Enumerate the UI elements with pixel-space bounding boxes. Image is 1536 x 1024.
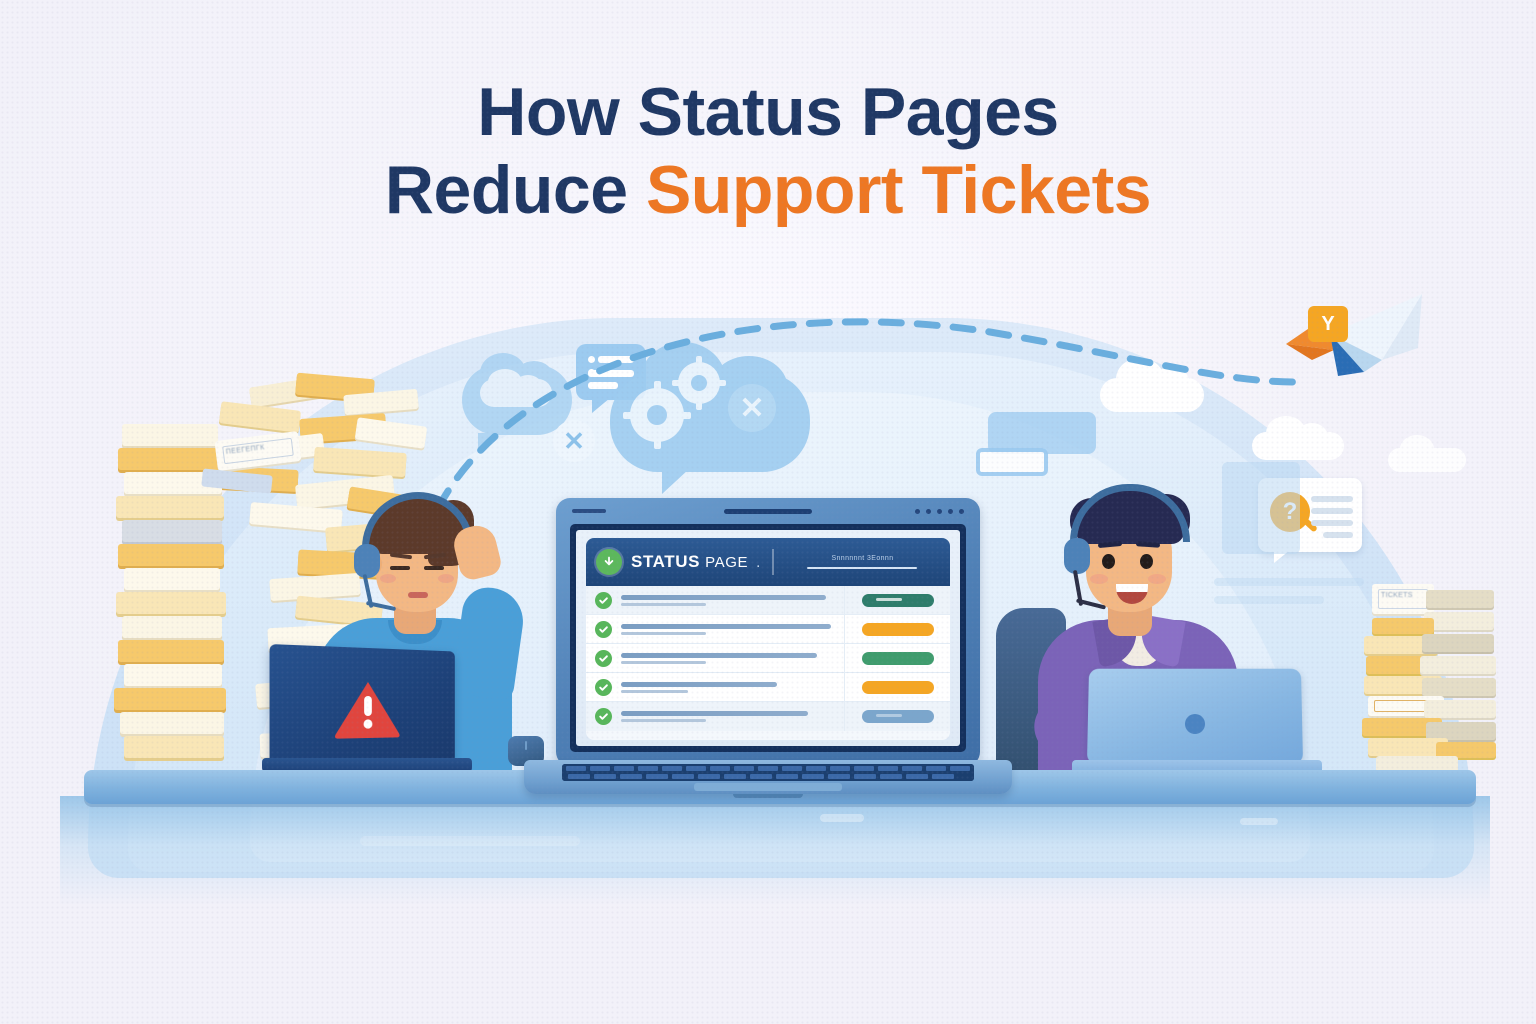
status-badge bbox=[862, 594, 934, 607]
status-page-laptop[interactable]: STATUS PAGE . Snnnnnnt 3Eonnn bbox=[556, 498, 980, 798]
status-title-bold: STATUS bbox=[631, 552, 700, 571]
keyboard-keys bbox=[562, 764, 974, 781]
agent-eye bbox=[1102, 554, 1115, 569]
paper-plane-icon: Y bbox=[1272, 288, 1432, 384]
table-row[interactable] bbox=[586, 586, 950, 615]
status-title-dot: . bbox=[756, 554, 761, 571]
left-laptop-screen[interactable] bbox=[270, 644, 455, 770]
agent-eye bbox=[390, 566, 410, 570]
headset-earcup-icon bbox=[354, 544, 380, 578]
bezel-dots bbox=[915, 509, 964, 514]
page-title: How Status Pages Reduce Support Tickets bbox=[0, 76, 1536, 226]
status-page-screen[interactable]: STATUS PAGE . Snnnnnnt 3Eonnn bbox=[576, 530, 960, 746]
right-laptop[interactable] bbox=[1072, 668, 1322, 780]
desk-surface bbox=[60, 796, 1490, 906]
row-text-placeholder bbox=[621, 624, 844, 635]
agent-blush bbox=[438, 574, 454, 583]
row-status-cell bbox=[844, 702, 950, 731]
agent-blush bbox=[380, 574, 396, 583]
agent-eye bbox=[424, 566, 444, 570]
agent-arm bbox=[451, 584, 528, 702]
row-status-cell bbox=[844, 586, 950, 614]
status-badge bbox=[862, 623, 934, 636]
laptop-logo-icon bbox=[1185, 714, 1205, 734]
table-row[interactable] bbox=[586, 673, 950, 702]
header-divider bbox=[772, 549, 774, 575]
laptop-trackpad[interactable] bbox=[694, 783, 842, 791]
title-line-2-prefix: Reduce bbox=[385, 152, 646, 228]
agent-blush bbox=[1090, 574, 1108, 584]
download-circle-icon bbox=[596, 549, 622, 575]
stack-label-text: TICKETS bbox=[1381, 592, 1413, 599]
row-text-placeholder bbox=[621, 653, 844, 664]
table-row[interactable] bbox=[586, 644, 950, 673]
camera-slit bbox=[724, 509, 812, 514]
row-text-placeholder bbox=[621, 595, 844, 606]
title-line-2: Reduce Support Tickets bbox=[0, 154, 1536, 226]
status-page-header: STATUS PAGE . Snnnnnnt 3Eonnn bbox=[586, 538, 950, 586]
laptop-bezel: STATUS PAGE . Snnnnnnt 3Eonnn bbox=[570, 524, 966, 752]
check-circle-icon bbox=[595, 679, 612, 696]
card-text-line bbox=[1311, 520, 1353, 526]
agent-blush bbox=[1148, 574, 1166, 584]
card-text-line bbox=[1323, 532, 1353, 538]
row-text-placeholder bbox=[621, 711, 844, 722]
orange-badge: Y bbox=[1308, 306, 1348, 342]
camera-indicator bbox=[572, 509, 606, 513]
status-page-title: STATUS PAGE . bbox=[631, 552, 761, 572]
table-row[interactable] bbox=[586, 702, 950, 731]
header-subtitle-rule bbox=[807, 567, 917, 569]
labeled-envelope: ПЕЕГЕПГК bbox=[214, 431, 301, 471]
laptop-notch bbox=[733, 794, 803, 798]
status-title-normal: PAGE bbox=[705, 554, 748, 571]
check-circle-icon bbox=[595, 592, 612, 609]
title-line-1: How Status Pages bbox=[0, 76, 1536, 148]
row-status-cell bbox=[844, 644, 950, 672]
header-subtitle-text: Snnnnnnt 3Eonnn bbox=[831, 555, 893, 562]
right-laptop-screen[interactable] bbox=[1087, 669, 1303, 764]
status-badge bbox=[862, 652, 934, 665]
card-text-line bbox=[1311, 508, 1353, 514]
status-badge bbox=[862, 710, 934, 723]
headset-band-icon bbox=[1070, 484, 1190, 542]
warning-triangle-icon bbox=[333, 678, 402, 742]
header-subtitle-block: Snnnnnnt 3Eonnn bbox=[785, 555, 940, 569]
table-row[interactable] bbox=[586, 615, 950, 644]
card-text-line bbox=[1311, 496, 1353, 502]
check-circle-icon bbox=[595, 621, 612, 638]
status-badge bbox=[862, 681, 934, 694]
status-page-rows bbox=[586, 586, 950, 740]
check-circle-icon bbox=[595, 708, 612, 725]
cloud-icon bbox=[1388, 448, 1466, 472]
check-circle-icon bbox=[595, 650, 612, 667]
headset-earcup-icon bbox=[1064, 538, 1090, 574]
agent-eye bbox=[1140, 554, 1153, 569]
laptop-lid: STATUS PAGE . Snnnnnnt 3Eonnn bbox=[556, 498, 980, 766]
agent-mouth bbox=[408, 592, 428, 598]
illustration-canvas: ✕ ✕ bbox=[0, 0, 1536, 1024]
row-text-placeholder bbox=[621, 682, 844, 693]
row-status-cell bbox=[844, 615, 950, 643]
row-status-cell bbox=[844, 673, 950, 701]
title-line-2-accent: Support Tickets bbox=[646, 152, 1151, 228]
